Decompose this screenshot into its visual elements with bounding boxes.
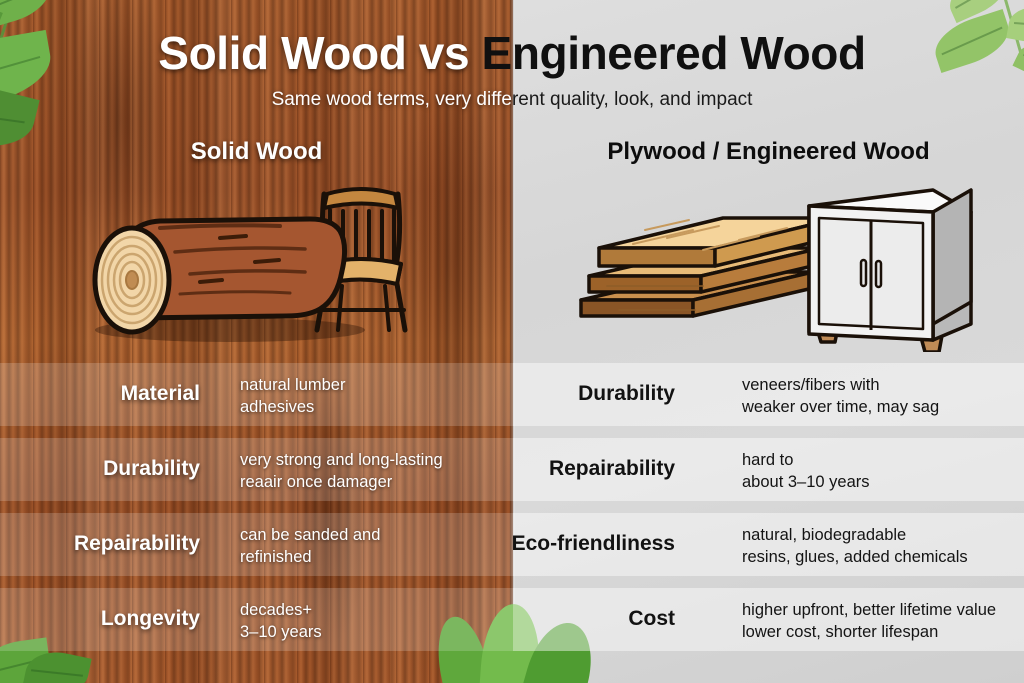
row-values-longevity: decades+ 3–10 years <box>240 600 322 644</box>
column-heading-engineered-wood: Plywood / Engineered Wood <box>513 138 1024 166</box>
title-right-part: Engineered Wood <box>482 27 866 79</box>
row-value-line: refinished <box>240 547 380 569</box>
row-value-line: reaair once damager <box>240 472 443 494</box>
row-value-line: decades+ <box>240 600 322 622</box>
row-label-longevity: Longevity <box>20 607 200 631</box>
row-label-eco-friendliness: Eco-friendliness <box>508 532 675 556</box>
row-value-line: higher upfront, better lifetime value <box>742 600 996 622</box>
subtitle-light-part: Same wood terms, very diffe <box>272 89 512 110</box>
row-value-line: lower cost, shorter lifespan <box>742 622 996 644</box>
row-values-durability: very strong and long-lasting reaair once… <box>240 450 443 494</box>
row-value-line: can be sanded and <box>240 525 380 547</box>
row-value-line: weaker over time, may sag <box>742 397 939 419</box>
page-title: Solid Wood vs Engineered Wood <box>0 26 1024 80</box>
row-values-repairability: can be sanded and refinished <box>240 525 380 569</box>
row-value-line: natural lumber <box>240 375 345 397</box>
row-label-durability: Durability <box>520 382 675 406</box>
row-label-durability: Durability <box>20 457 200 481</box>
row-value-line: about 3–10 years <box>742 472 870 494</box>
row-values-material: natural lumber adhesives <box>240 375 345 419</box>
row-values-repairability: hard to about 3–10 years <box>742 450 870 494</box>
row-value-line: 3–10 years <box>240 622 322 644</box>
row-label-cost: Cost <box>520 607 675 631</box>
infographic-canvas: Solid Wood vs Engineered Wood Same wood … <box>0 0 1024 683</box>
row-value-line: adhesives <box>240 397 345 419</box>
column-heading-solid-wood: Solid Wood <box>0 138 513 166</box>
subtitle-dark-part: rent quality, look, and impact <box>512 89 752 110</box>
row-values-eco-friendliness: natural, biodegradable resins, glues, ad… <box>742 525 968 569</box>
row-values-durability: veneers/fibers with weaker over time, ma… <box>742 375 939 419</box>
row-value-line: hard to <box>742 450 870 472</box>
row-value-line: resins, glues, added chemicals <box>742 547 968 569</box>
row-label-repairability: Repairability <box>520 457 675 481</box>
page-subtitle: Same wood terms, very different quality,… <box>0 89 1024 111</box>
title-left-part: Solid Wood vs <box>158 27 481 79</box>
row-value-line: very strong and long-lasting <box>240 450 443 472</box>
row-label-material: Material <box>20 382 200 406</box>
row-value-line: veneers/fibers with <box>742 375 939 397</box>
row-value-line: natural, biodegradable <box>742 525 968 547</box>
row-label-repairability: Repairability <box>20 532 200 556</box>
row-values-cost: higher upfront, better lifetime value lo… <box>742 600 996 644</box>
